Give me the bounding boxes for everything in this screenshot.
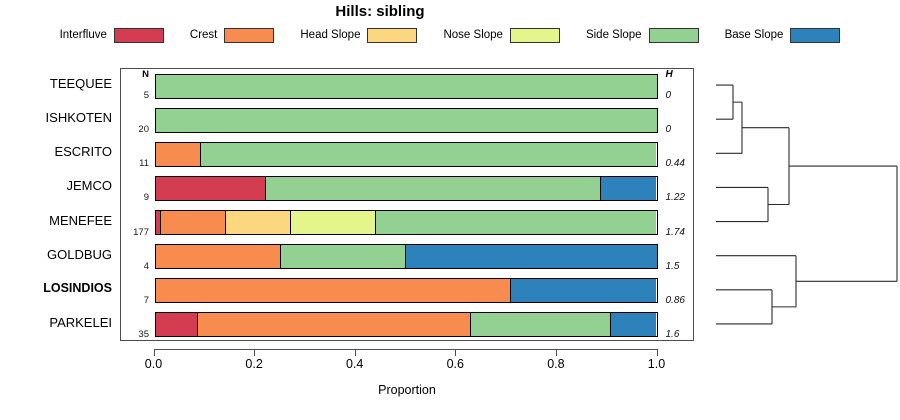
stacked-bar[interactable] bbox=[155, 312, 658, 337]
y-axis-label-jemco: JEMCO bbox=[0, 178, 120, 193]
dendrogram-node bbox=[716, 256, 796, 307]
n-value: 7 bbox=[121, 295, 149, 306]
chart-title: Hills: sibling bbox=[0, 3, 760, 20]
x-tick-label: 0.6 bbox=[435, 357, 475, 371]
y-axis-label-escrito: ESCRITO bbox=[0, 144, 120, 159]
x-tick-label: 1.0 bbox=[637, 357, 677, 371]
legend: Interfluve Crest Head Slope Nose Slope S… bbox=[0, 25, 900, 45]
bar-segment[interactable] bbox=[406, 245, 657, 268]
legend-swatch bbox=[367, 28, 417, 43]
bar-segment[interactable] bbox=[201, 143, 657, 166]
legend-swatch bbox=[510, 28, 560, 43]
x-tick bbox=[254, 349, 255, 356]
bar-segment[interactable] bbox=[376, 211, 657, 234]
bar-segment[interactable] bbox=[161, 211, 226, 234]
bar-segment[interactable] bbox=[156, 143, 201, 166]
n-column-header: N bbox=[121, 69, 149, 80]
n-value: 177 bbox=[121, 227, 149, 238]
y-axis-label-parkelei: PARKELEI bbox=[0, 315, 120, 330]
bar-segment[interactable] bbox=[611, 313, 656, 336]
stacked-bar[interactable] bbox=[155, 244, 658, 269]
legend-item-base-slope: Base Slope bbox=[725, 28, 841, 43]
stacked-bar[interactable] bbox=[155, 74, 658, 99]
legend-item-nose-slope: Nose Slope bbox=[443, 28, 559, 43]
bar-segment[interactable] bbox=[156, 109, 657, 132]
dendrogram-svg bbox=[694, 68, 900, 341]
dendrogram bbox=[694, 68, 900, 341]
stacked-bar[interactable] bbox=[155, 210, 658, 235]
x-tick bbox=[657, 349, 658, 356]
x-tick-label: 0.0 bbox=[134, 357, 174, 371]
y-axis-label-teequee: TEEQUEE bbox=[0, 76, 120, 91]
x-axis-title: Proportion bbox=[120, 383, 694, 397]
y-axis-label-ishkoten: ISHKOTEN bbox=[0, 110, 120, 125]
x-tick-label: 0.2 bbox=[234, 357, 274, 371]
legend-label: Crest bbox=[190, 29, 217, 41]
legend-label: Interfluve bbox=[60, 29, 107, 41]
dendrogram-node bbox=[789, 166, 897, 281]
legend-swatch bbox=[649, 28, 699, 43]
legend-label: Base Slope bbox=[725, 29, 784, 41]
legend-item-side-slope: Side Slope bbox=[586, 28, 699, 43]
x-tick-label: 0.8 bbox=[536, 357, 576, 371]
bar-segment[interactable] bbox=[156, 177, 266, 200]
dendrogram-node bbox=[716, 187, 768, 221]
bar-segment[interactable] bbox=[226, 211, 291, 234]
dendrogram-node bbox=[716, 85, 733, 119]
stacked-bar[interactable] bbox=[155, 278, 658, 303]
legend-item-crest: Crest bbox=[190, 28, 274, 43]
x-axis-line bbox=[154, 349, 657, 350]
dendrogram-node bbox=[742, 128, 789, 205]
x-axis: 0.00.20.40.60.81.0 bbox=[120, 341, 694, 381]
dendrogram-node bbox=[716, 102, 742, 153]
n-value: 5 bbox=[121, 90, 149, 101]
x-tick bbox=[355, 349, 356, 356]
bar-segment[interactable] bbox=[156, 279, 512, 302]
bar-segment[interactable] bbox=[198, 313, 471, 336]
bar-segment[interactable] bbox=[266, 177, 602, 200]
bar-segment[interactable] bbox=[156, 313, 199, 336]
n-value: 11 bbox=[121, 158, 149, 169]
legend-label: Side Slope bbox=[586, 29, 642, 41]
x-tick bbox=[455, 349, 456, 356]
legend-label: Nose Slope bbox=[443, 29, 502, 41]
legend-swatch bbox=[114, 28, 164, 43]
legend-swatch bbox=[790, 28, 840, 43]
bar-segment[interactable] bbox=[156, 75, 657, 98]
legend-swatch bbox=[224, 28, 274, 43]
legend-item-head-slope: Head Slope bbox=[300, 28, 417, 43]
x-tick bbox=[556, 349, 557, 356]
x-tick bbox=[154, 349, 155, 356]
stacked-bar[interactable] bbox=[155, 142, 658, 167]
stacked-bar[interactable] bbox=[155, 108, 658, 133]
plot-panel: NH50200110.4491.221771.7441.570.86351.6 bbox=[120, 68, 694, 341]
legend-label: Head Slope bbox=[300, 29, 360, 41]
x-tick-label: 0.4 bbox=[335, 357, 375, 371]
bar-rows: NH50200110.4491.221771.7441.570.86351.6 bbox=[121, 69, 693, 340]
n-value: 4 bbox=[121, 261, 149, 272]
bar-segment[interactable] bbox=[156, 245, 281, 268]
n-value: 35 bbox=[121, 329, 149, 340]
y-axis-label-losindios: LOSINDIOS bbox=[0, 281, 120, 295]
bar-segment[interactable] bbox=[281, 245, 406, 268]
y-axis-label-goldbug: GOLDBUG bbox=[0, 247, 120, 262]
dendrogram-node bbox=[716, 290, 772, 324]
chart-root: Hills: sibling Interfluve Crest Head Slo… bbox=[0, 0, 900, 420]
n-value: 9 bbox=[121, 192, 149, 203]
bar-segment[interactable] bbox=[601, 177, 656, 200]
bar-segment[interactable] bbox=[511, 279, 656, 302]
n-value: 20 bbox=[121, 124, 149, 135]
bar-segment[interactable] bbox=[291, 211, 376, 234]
bar-segment[interactable] bbox=[471, 313, 611, 336]
y-axis-label-menefee: MENEFEE bbox=[0, 213, 120, 228]
stacked-bar[interactable] bbox=[155, 176, 658, 201]
legend-item-interfluve: Interfluve bbox=[60, 28, 164, 43]
